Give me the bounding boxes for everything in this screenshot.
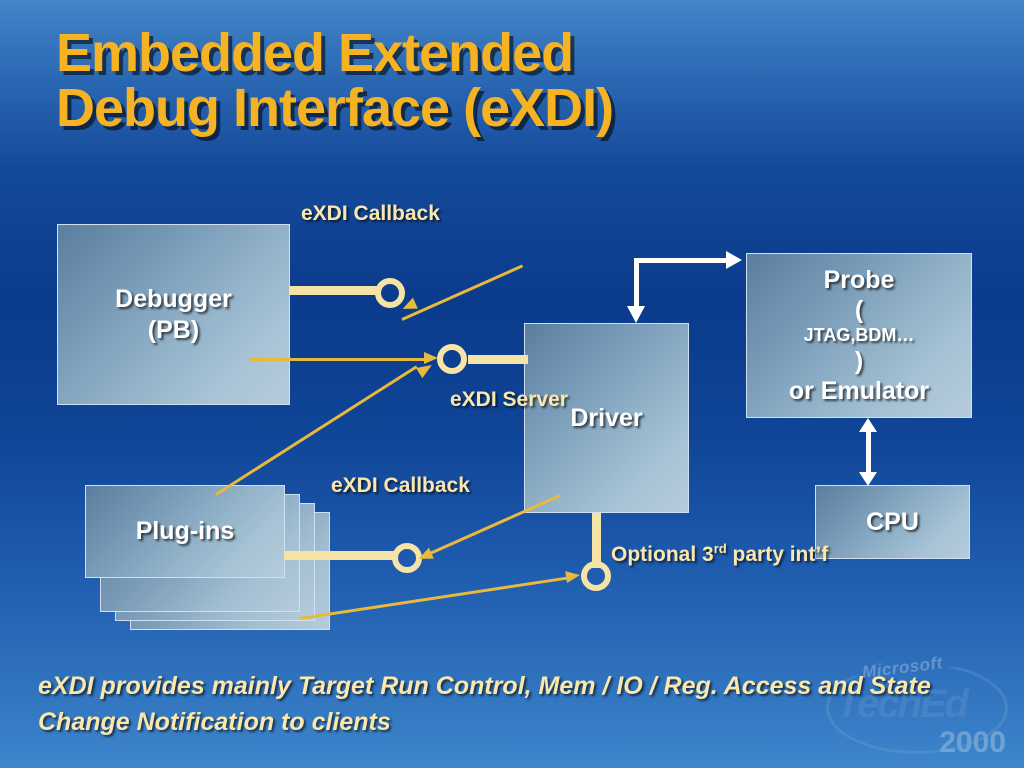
node-debugger-label-1: Debugger [115,284,232,315]
node-probe-label-1: Probe [824,265,895,295]
connector-driver-thirdparty [592,513,601,568]
connector-plugins-callback [284,551,394,560]
connector-debugger-callback [289,286,381,295]
arrowhead-right-probe [726,251,742,269]
probe-paren-close: ) [804,346,915,376]
node-driver[interactable]: Driver [524,323,689,513]
title-line-1: Embedded Extended [56,23,573,83]
probe-paren-open: ( [804,295,915,325]
socket-third-party[interactable] [581,561,611,591]
label-exdi-callback-bottom-l2: Callback [384,474,470,497]
node-probe-label-3: or Emulator [789,376,929,406]
page-title: Embedded Extended Debug Interface (eXDI) [56,26,936,136]
label-optional-ordinal: rd [714,541,727,556]
label-optional-l2: party int’f [733,543,829,566]
link-driver-to-callback-bottom [420,494,560,559]
title-line-2: Debug Interface (eXDI) [56,81,936,136]
socket-exdi-server[interactable] [437,344,467,374]
arrowhead-thirdparty [565,569,581,583]
arrow-probe-cpu-line [866,426,871,478]
logo-year-text: 2000 [939,726,1006,760]
label-exdi-callback-top: eXDI Callback [301,202,440,227]
node-cpu[interactable]: CPU [815,485,970,559]
arrowhead-up-probe [859,418,877,432]
probe-interfaces: JTAG,BDM… [804,325,915,347]
link-debugger-to-server [250,358,428,361]
node-plugins-label: Plug-ins [136,517,235,546]
node-cpu-label: CPU [866,508,919,537]
node-probe[interactable]: Probe (JTAG,BDM…) or Emulator [746,253,972,418]
label-exdi-server-l2: Server [503,388,568,411]
arrowhead-down-cpu [859,472,877,486]
label-exdi-callback-bottom-l1: eXDI [331,474,378,497]
node-driver-label: Driver [570,404,642,433]
node-debugger-label-2: (PB) [148,315,199,346]
label-optional-l1: Optional 3rd [611,543,727,566]
label-exdi-callback-top-l2: Callback [354,202,440,225]
slide-canvas: Embedded Extended Debug Interface (eXDI)… [0,0,1024,768]
link-server-to-callback-top [401,264,523,320]
label-exdi-server: eXDI Server [450,388,568,413]
label-optional-text: Optional 3 [611,543,714,566]
label-exdi-server-l1: eXDI [450,388,497,411]
label-exdi-callback-top-l1: eXDI [301,202,348,225]
label-exdi-callback-bottom: eXDI Callback [331,474,470,499]
arrow-driver-probe-horizontal [634,258,730,263]
arrow-driver-probe-vertical [634,258,639,310]
label-optional-third-party: Optional 3rd party int’f [611,541,828,568]
arrowhead-down-driver [627,306,645,323]
link-plugins-to-thirdparty [300,575,575,620]
node-debugger[interactable]: Debugger (PB) [57,224,290,405]
node-probe-label-2: (JTAG,BDM…) [804,295,915,377]
connector-driver-server [468,355,528,364]
slide-caption: eXDI provides mainly Target Run Control,… [38,668,938,741]
node-plugins[interactable]: Plug-ins [85,485,285,578]
